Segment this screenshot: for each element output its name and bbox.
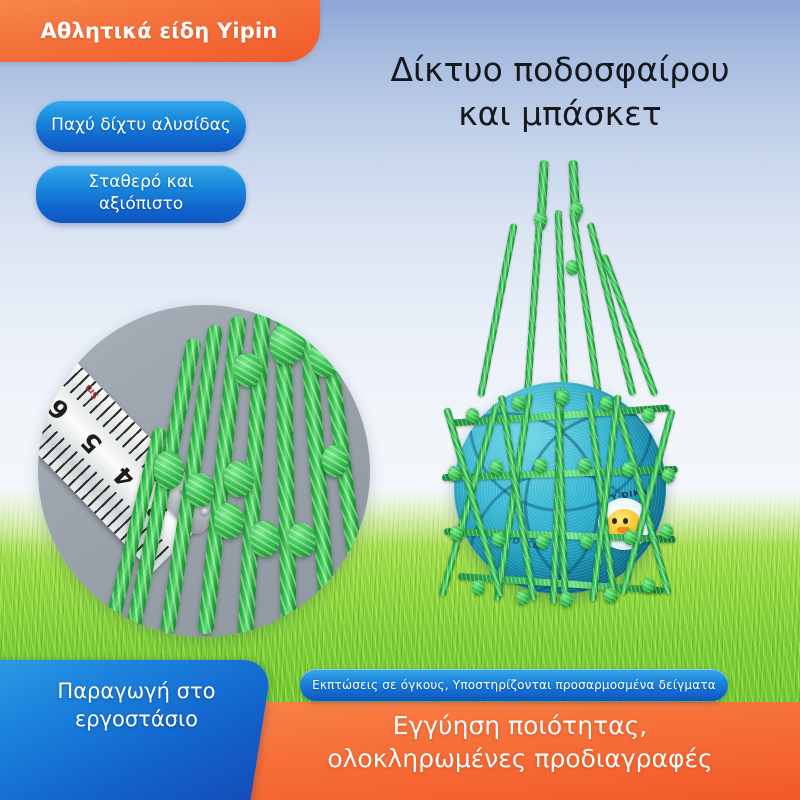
feature-pill-stable-reliable[interactable]: Σταθερό και αξιόπιστο <box>36 165 246 223</box>
bottom-banner-line-1: Εγγύηση ποιότητας, <box>250 710 790 743</box>
rope-knot <box>154 451 184 489</box>
rope-knot <box>448 466 461 481</box>
rope-knot <box>604 588 617 603</box>
factory-panel: Παραγωγή στο εργοστάσιο <box>0 660 273 800</box>
headline-line-1: Δίκτυο ποδοσφαίρου <box>330 48 790 92</box>
rope-knot <box>512 396 525 411</box>
factory-panel-line-2: εργοστάσιο <box>11 706 261 734</box>
green-rope-bundle <box>38 305 370 637</box>
product-ad-canvas: Αθλητικά είδη Yipin Δίκτυο ποδοσφαίρου κ… <box>0 0 800 800</box>
rope-detail-circle-inset: 5m 8 7 6 5 4 3 <box>38 305 370 637</box>
brand-banner: Αθλητικά είδη Yipin <box>0 0 320 62</box>
bottom-banner-text: Εγγύηση ποιότητας, ολοκληρωμένες προδιαγ… <box>250 710 790 775</box>
rope-knot <box>578 458 591 473</box>
page-title: Δίκτυο ποδοσφαίρου και μπάσκετ <box>330 48 790 136</box>
factory-panel-line-1: Παραγωγή στο <box>11 678 261 706</box>
rope-knot <box>472 580 485 595</box>
rope-knot <box>450 526 463 541</box>
feature-pill-thick-chain-net[interactable]: Παχύ δίχτυ αλυσίδας <box>36 100 246 152</box>
rope-knot <box>534 458 547 473</box>
rope-knot <box>288 523 316 557</box>
rope-knot <box>490 460 503 475</box>
rope-knot <box>322 445 348 477</box>
rope-knot <box>466 408 479 423</box>
rope-knot <box>642 578 655 593</box>
rope-knot <box>600 396 613 411</box>
rope-knot <box>186 473 214 507</box>
rope-knot <box>622 462 635 477</box>
feature-pill-label: Παχύ δίχτυ αλυσίδας <box>51 115 231 137</box>
rope-knot <box>560 592 573 607</box>
rope-knot <box>660 524 673 539</box>
rope-knot <box>270 325 304 365</box>
rope-knot <box>580 534 593 549</box>
rope-knot <box>492 532 505 547</box>
rope-knot <box>536 534 549 549</box>
rope-knot <box>516 590 529 605</box>
product-ball-in-net: Y·DIKA Y·DIKA <box>430 160 690 660</box>
feature-pill-label: Σταθερό και αξιόπιστο <box>48 172 234 216</box>
headline-line-2: και μπάσκετ <box>330 92 790 136</box>
rope-knot <box>250 521 280 557</box>
brand-name: Αθλητικά είδη Yipin <box>22 19 277 43</box>
rope-knot <box>234 353 262 387</box>
rope-knot <box>642 408 655 423</box>
rope-knot <box>214 503 244 539</box>
rope-knot <box>310 339 342 377</box>
promo-ribbon[interactable]: Εκπτώσεις σε όγκους, Υποστηρίζονται προσ… <box>300 669 728 701</box>
promo-ribbon-label: Εκπτώσεις σε όγκους, Υποστηρίζονται προσ… <box>312 678 716 692</box>
rope-knot <box>224 461 254 497</box>
rope-knot <box>662 468 675 483</box>
net-over-ball <box>430 160 690 660</box>
factory-panel-text: Παραγωγή στο εργοστάσιο <box>11 678 261 733</box>
feature-pill-list: Παχύ δίχτυ αλυσίδας Σταθερό και αξιόπιστ… <box>36 100 246 236</box>
rope-knot <box>556 390 569 405</box>
bottom-banner-line-2: ολοκληρωμένες προδιαγραφές <box>250 743 790 776</box>
rope-knot <box>624 530 637 545</box>
